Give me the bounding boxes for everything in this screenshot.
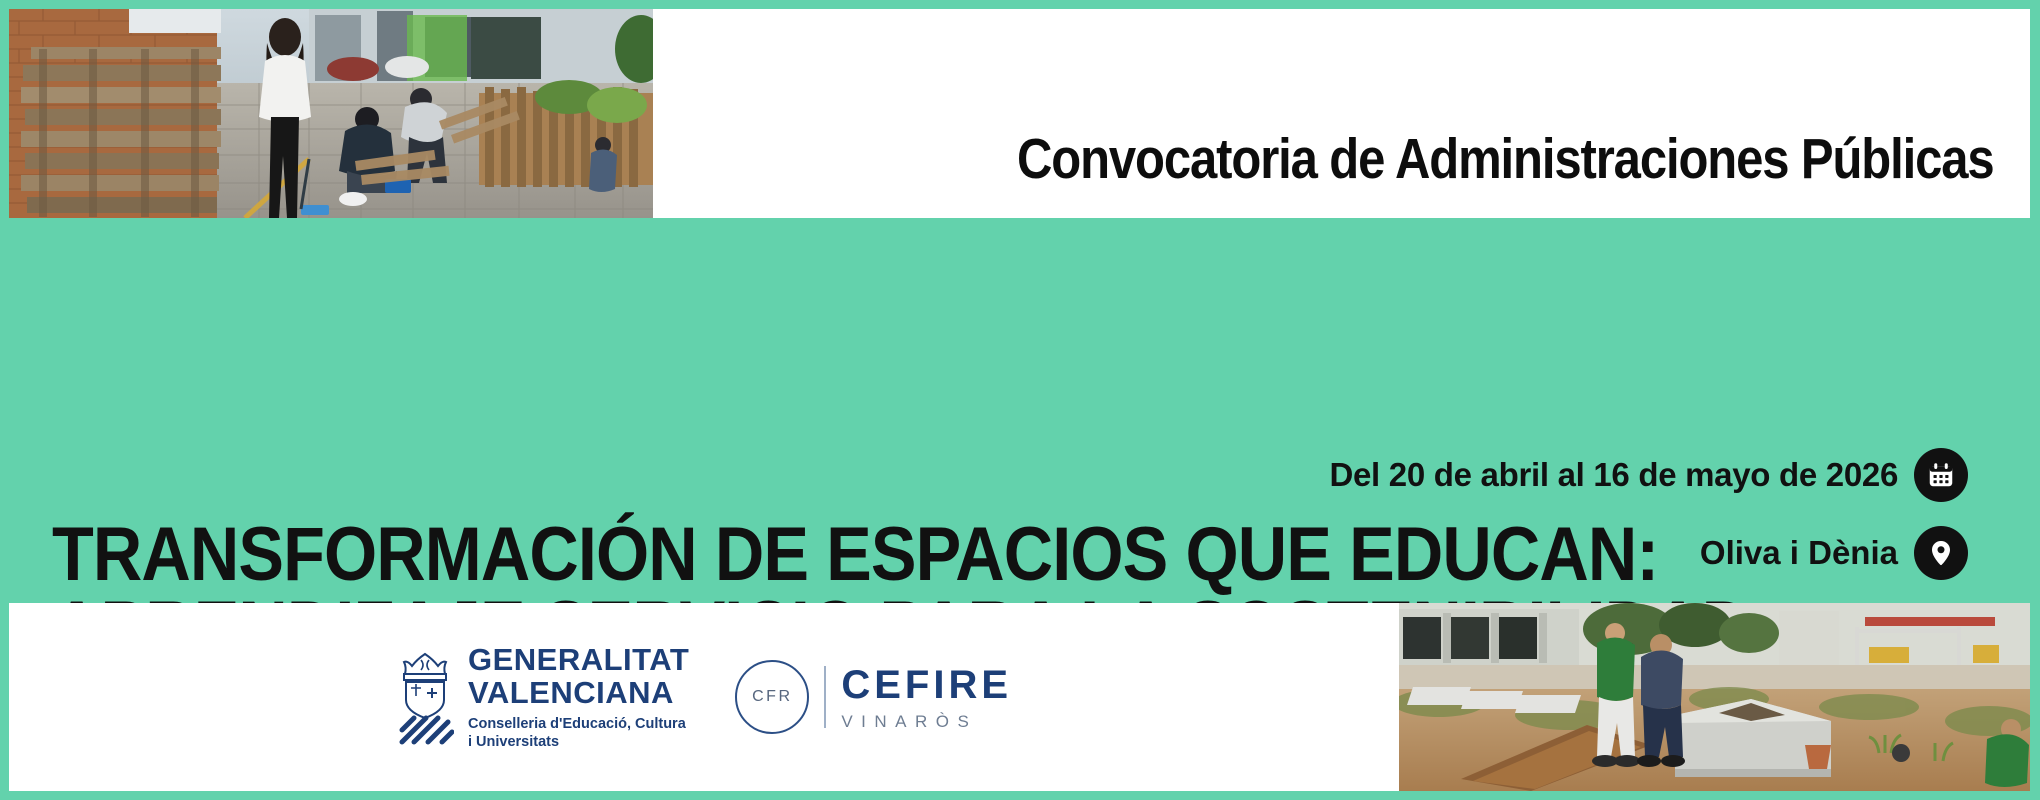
meta-row-location: Oliva i Dènia bbox=[1208, 526, 1968, 580]
cefire-city: VINARÒS bbox=[841, 713, 1012, 730]
location-label: Oliva i Dènia bbox=[1700, 534, 1898, 572]
cefire-logo: CFR CEFIRE VINARÒS bbox=[735, 660, 1012, 734]
gva-sub-1: Conselleria d'Educació, Cultura bbox=[468, 716, 689, 733]
gva-line-1: GENERALITAT bbox=[468, 643, 689, 676]
main-band: Transformación de espacios que educan: A… bbox=[0, 218, 2040, 603]
generalitat-crest-icon bbox=[396, 650, 454, 745]
gva-sub-2: i Universitats bbox=[468, 734, 689, 751]
hero-photo bbox=[9, 9, 653, 218]
logo-divider bbox=[824, 666, 826, 728]
course-poster: Convocatoria de Administraciones Pública… bbox=[0, 0, 2040, 800]
footer-band: GENERALITAT VALENCIANA Conselleria d'Edu… bbox=[9, 603, 2030, 791]
cefire-name: CEFIRE bbox=[841, 665, 1012, 705]
generalitat-valenciana-logo: GENERALITAT VALENCIANA Conselleria d'Edu… bbox=[396, 643, 689, 751]
footer-photo bbox=[1399, 603, 2030, 791]
eyebrow-title: Convocatoria de Administraciones Pública… bbox=[1017, 126, 1994, 192]
dates-label: Del 20 de abril al 16 de mayo de 2026 bbox=[1329, 456, 1898, 494]
map-pin-icon bbox=[1914, 526, 1968, 580]
cfr-circle-icon: CFR bbox=[735, 660, 809, 734]
footer-logos: GENERALITAT VALENCIANA Conselleria d'Edu… bbox=[9, 603, 1399, 791]
cfr-label: CFR bbox=[752, 688, 792, 706]
gva-line-2: VALENCIANA bbox=[468, 676, 689, 709]
meta-row-dates: Del 20 de abril al 16 de mayo de 2026 bbox=[1208, 448, 1968, 502]
calendar-icon bbox=[1914, 448, 1968, 502]
generalitat-wordmark: GENERALITAT VALENCIANA Conselleria d'Edu… bbox=[468, 643, 689, 751]
cefire-wordmark: CEFIRE VINARÒS bbox=[841, 665, 1012, 730]
header-band: Convocatoria de Administraciones Pública… bbox=[9, 9, 2030, 218]
